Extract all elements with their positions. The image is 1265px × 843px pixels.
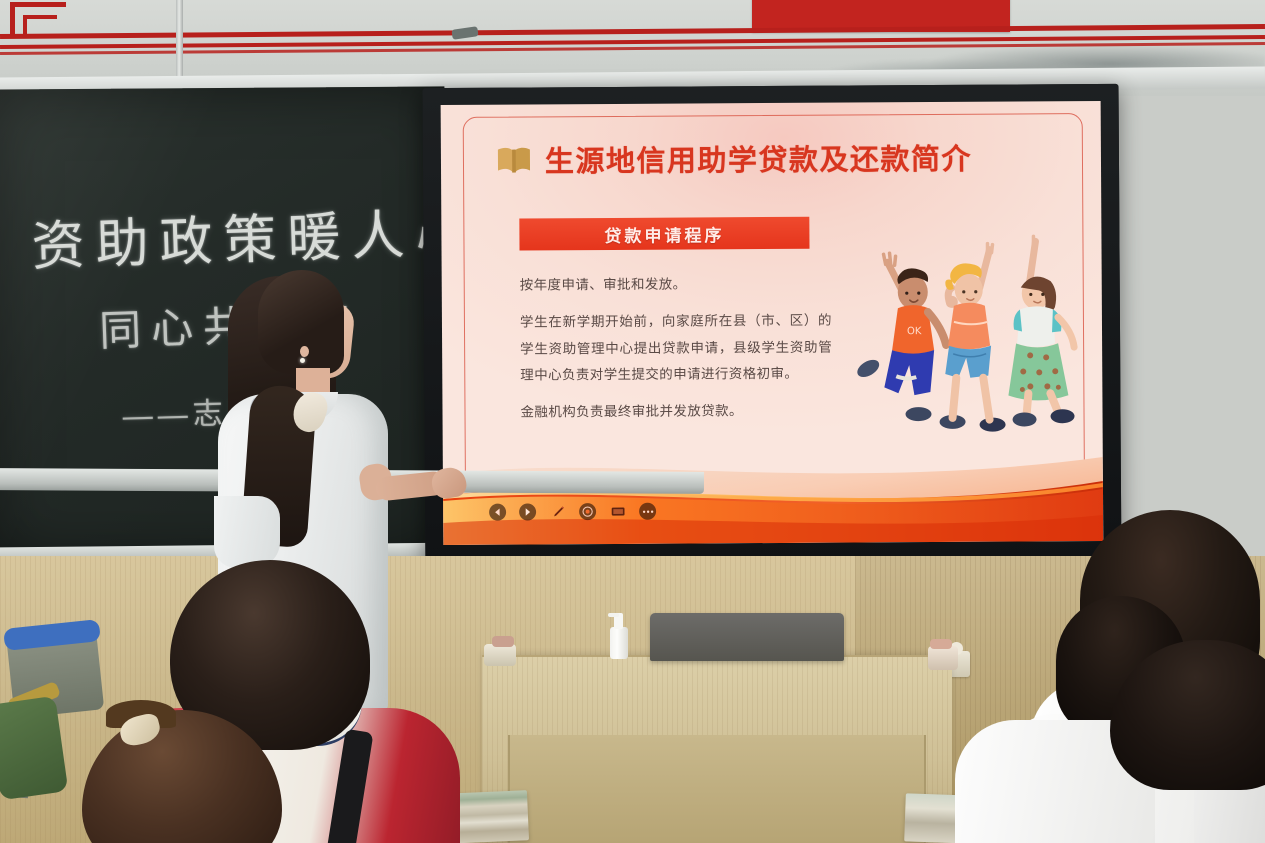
slide-body-text: 按年度申请、审批和发放。 学生在新学期开始前，向家庭所在县（市、区）的学生资助管… bbox=[520, 271, 833, 437]
presenter-sleeve bbox=[214, 496, 280, 568]
student-right-d bbox=[1090, 640, 1265, 843]
interactive-smart-display[interactable]: 生源地信用助学贷款及还款简介 贷款申请程序 按年度申请、审批和发放。 学生在新学… bbox=[423, 84, 1122, 574]
student-front-left bbox=[42, 700, 322, 843]
sanitizer-nozzle bbox=[608, 613, 619, 617]
spotlight-button[interactable] bbox=[579, 503, 596, 520]
more-options-button[interactable] bbox=[639, 503, 656, 520]
presenter-earring bbox=[300, 358, 305, 363]
svg-text:OK: OK bbox=[907, 326, 922, 337]
podium-clamp-right bbox=[928, 646, 958, 670]
slide-paragraph-2: 学生在新学期开始前，向家庭所在县（市、区）的学生资助管理中心提出贷款申请，县级学… bbox=[520, 308, 832, 389]
slide-section-header-label: 贷款申请程序 bbox=[604, 221, 724, 247]
hand-sanitizer-bottle bbox=[608, 611, 630, 659]
open-book-icon bbox=[497, 146, 531, 173]
previous-slide-button[interactable] bbox=[489, 504, 506, 521]
podium-front-panel bbox=[508, 735, 926, 843]
kid-green-skirt bbox=[1007, 236, 1074, 426]
slide-paragraph-3: 金融机构负责最终审批并发放贷款。 bbox=[520, 398, 832, 426]
slide-title-row: 生源地信用助学贷款及还款简介 bbox=[497, 136, 972, 181]
student-head bbox=[1110, 640, 1265, 790]
slide-paragraph-1: 按年度申请、审批和发放。 bbox=[520, 271, 832, 299]
laptop[interactable] bbox=[650, 613, 844, 661]
screen-capture-button[interactable] bbox=[609, 503, 626, 520]
kid-blonde-denim bbox=[938, 244, 1005, 432]
podium bbox=[482, 655, 952, 843]
presenter-ear bbox=[300, 346, 309, 357]
pen-tool-button[interactable] bbox=[549, 503, 566, 520]
wall-hook bbox=[451, 26, 478, 40]
slide-section-header: 贷款申请程序 bbox=[519, 217, 809, 251]
kid-orange-blue: OK bbox=[854, 253, 947, 422]
slide-toolbar[interactable] bbox=[489, 503, 656, 521]
wall-corner-motif bbox=[10, 2, 66, 38]
student-head bbox=[82, 710, 282, 843]
play-button[interactable] bbox=[519, 503, 536, 520]
slide-title: 生源地信用助学贷款及还款简介 bbox=[545, 136, 972, 181]
classroom-scene: 资助政策暖人心 同心共筑梦 ——志愿服务团 生源地信用助学贷款及还款简介 bbox=[0, 0, 1265, 843]
back-wall-upper bbox=[0, 0, 1265, 96]
podium-clamp-left bbox=[484, 644, 516, 666]
sanitizer-body bbox=[610, 627, 628, 659]
